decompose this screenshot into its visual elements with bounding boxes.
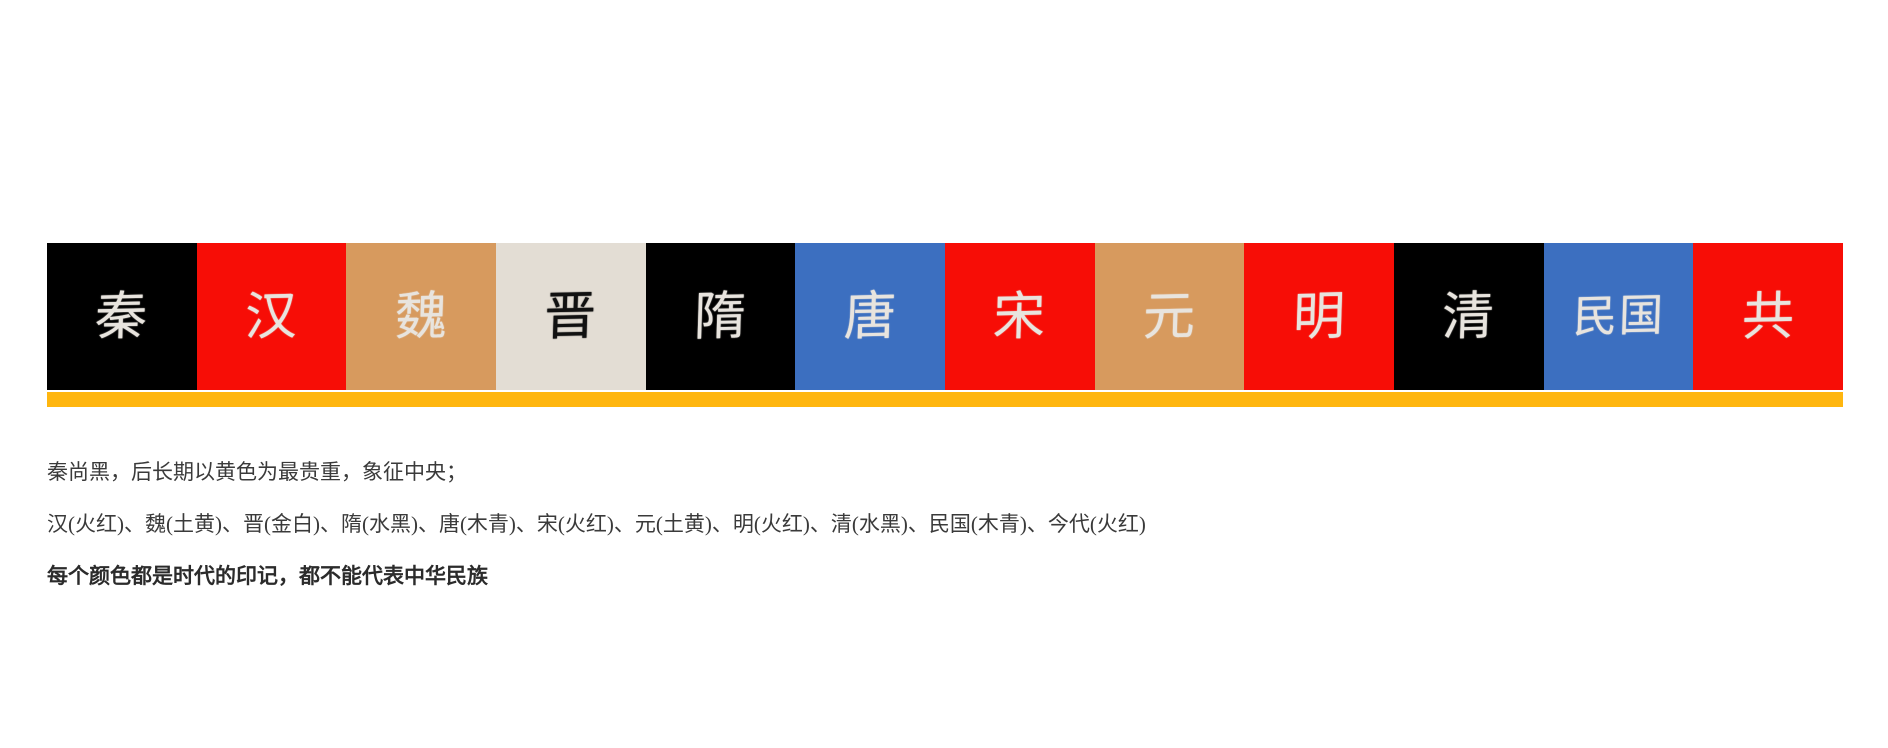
dynasty-segment-sui: 隋 [646, 243, 796, 390]
dynasty-segment-ming: 明 [1244, 243, 1394, 390]
dynasty-segment-song: 宋 [945, 243, 1095, 390]
dynasty-label-song: 宋 [993, 290, 1048, 343]
caption-line-2: 汉(火红)、魏(土黄)、晋(金白)、隋(水黑)、唐(木青)、宋(火红)、元(土黄… [47, 514, 1747, 535]
dynasty-label-qing: 清 [1442, 290, 1497, 343]
caption-block: 秦尚黑，后长期以黄色为最贵重，象征中央； 汉(火红)、魏(土黄)、晋(金白)、隋… [47, 462, 1747, 587]
dynasty-label-qin: 秦 [95, 290, 150, 343]
dynasty-segment-yuan: 元 [1095, 243, 1245, 390]
dynasty-label-yuan: 元 [1142, 290, 1197, 343]
dynasty-segment-han: 汉 [197, 243, 347, 390]
dynasty-segment-wei: 魏 [346, 243, 496, 390]
dynasty-segment-qin: 秦 [47, 243, 197, 390]
caption-line-3: 每个颜色都是时代的印记，都不能代表中华民族 [47, 566, 1747, 587]
dynasty-label-sui: 隋 [693, 290, 748, 343]
page-root: 秦 汉 魏 晋 隋 唐 宋 元 明 [0, 0, 1888, 748]
dynasty-label-minguo: 民国 [1572, 294, 1665, 340]
dynasty-label-gong: 共 [1741, 290, 1796, 343]
dynasty-bar-underline [47, 392, 1843, 407]
dynasty-segment-gong: 共 [1693, 243, 1843, 390]
dynasty-label-han: 汉 [244, 290, 299, 343]
dynasty-segment-qing: 清 [1394, 243, 1544, 390]
dynasty-label-wei: 魏 [394, 290, 449, 343]
dynasty-color-bar-figure: 秦 汉 魏 晋 隋 唐 宋 元 明 [47, 243, 1843, 407]
caption-line-1: 秦尚黑，后长期以黄色为最贵重，象征中央； [47, 462, 1747, 483]
dynasty-label-tang: 唐 [843, 290, 898, 343]
dynasty-segment-jin: 晋 [496, 243, 646, 390]
dynasty-label-jin: 晋 [544, 290, 599, 343]
dynasty-color-bar: 秦 汉 魏 晋 隋 唐 宋 元 明 [47, 243, 1843, 390]
dynasty-segment-tang: 唐 [795, 243, 945, 390]
dynasty-segment-minguo: 民国 [1544, 243, 1694, 390]
dynasty-label-ming: 明 [1292, 290, 1347, 343]
